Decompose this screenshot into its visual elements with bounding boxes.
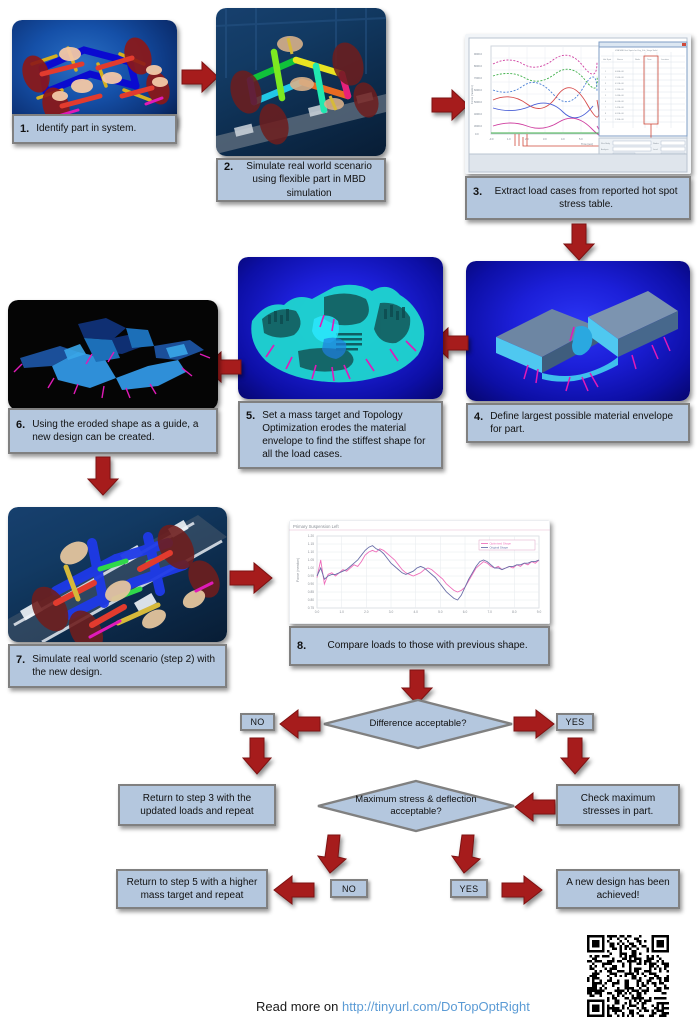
step-1-text: Identify part in system. xyxy=(36,122,169,135)
svg-text:9000.0: 9000.0 xyxy=(474,52,482,56)
svg-text:4.0: 4.0 xyxy=(413,610,418,614)
step-2-caption: 2. Simulate real world scenario using fl… xyxy=(216,158,386,202)
step-5-image xyxy=(238,257,443,399)
step-4-caption: 4. Define largest possible material enve… xyxy=(466,403,690,443)
svg-text:1.28E+08: 1.28E+08 xyxy=(615,89,625,91)
svg-text:2.0: 2.0 xyxy=(364,610,369,614)
svg-text:1.0: 1.0 xyxy=(339,610,344,614)
svg-text:3.0: 3.0 xyxy=(389,610,394,614)
arrow-step7-to-step8 xyxy=(228,561,274,595)
svg-text:0.80: 0.80 xyxy=(308,598,314,602)
svg-text:0.75: 0.75 xyxy=(308,606,314,610)
svg-text:5.0: 5.0 xyxy=(438,610,443,614)
svg-text:Nodes: Nodes xyxy=(653,143,659,145)
step-5-number: 5. xyxy=(246,409,255,424)
decision-difference-label: Difference acceptable? xyxy=(322,698,514,750)
svg-text:4.86E+08: 4.86E+08 xyxy=(615,71,625,73)
arrow-yes2-to-achieved xyxy=(500,874,544,906)
arrow-step6-to-step7 xyxy=(86,455,120,497)
outcome-new-design-achieved: A new design has been achieved! xyxy=(556,869,680,909)
tag-no-1: NO xyxy=(240,713,275,731)
step-1-number: 1. xyxy=(20,122,29,137)
svg-text:8.0: 8.0 xyxy=(512,610,517,614)
step-6-number: 6. xyxy=(16,418,25,433)
svg-text:0.85: 0.85 xyxy=(308,590,314,594)
decision-difference-acceptable: Difference acceptable? xyxy=(322,698,514,750)
svg-text:1.10: 1.10 xyxy=(308,550,314,554)
arrow-decision1-to-no xyxy=(278,708,322,740)
step-6-caption: 6. Using the eroded shape as a guide, a … xyxy=(8,408,218,454)
svg-text:1.0: 1.0 xyxy=(507,137,511,141)
step-8-number: 8. xyxy=(297,639,306,654)
svg-text:HTA MBD Hot Spots for Key_File: HTA MBD Hot Spots for Key_File_Stage.Sol… xyxy=(615,49,658,52)
step-2-number: 2. xyxy=(224,160,233,175)
step-8-text: Compare loads to those with previous sha… xyxy=(313,639,542,652)
svg-text:Original Shape: Original Shape xyxy=(490,546,509,550)
svg-text:1.15: 1.15 xyxy=(308,542,314,546)
svg-text:Node: Node xyxy=(635,59,641,61)
step-4-number: 4. xyxy=(474,410,483,425)
svg-text:Stress: Stress xyxy=(617,58,623,61)
svg-text:6000.0: 6000.0 xyxy=(474,88,482,92)
footer-read-more: Read more on http://tinyurl.com/DoTopOpt… xyxy=(256,999,530,1014)
svg-text:4.04E+08: 4.04E+08 xyxy=(615,101,625,103)
decision-max-stress: Maximum stress & deflection acceptable? xyxy=(316,779,516,833)
svg-text:Level: Level xyxy=(653,149,658,151)
svg-text:1.20: 1.20 xyxy=(308,534,314,538)
svg-text:9.0: 9.0 xyxy=(537,610,542,614)
step-5-caption: 5. Set a mass target and Topology Optimi… xyxy=(238,401,443,469)
step-3-caption: 3. Extract load cases from reported hot … xyxy=(465,176,691,220)
arrow-checkmax-to-decision2 xyxy=(513,791,557,823)
step-7-text: Simulate real world scenario (step 2) wi… xyxy=(32,653,219,679)
arrow-step3-to-step4 xyxy=(562,222,596,262)
svg-text:Force (newton): Force (newton) xyxy=(470,85,474,104)
outcome-return-step3: Return to step 3 with the updated loads … xyxy=(118,784,276,826)
svg-text:5.0: 5.0 xyxy=(579,137,583,141)
step-7-caption: 7. Simulate real world scenario (step 2)… xyxy=(8,644,227,688)
svg-text:1.08E+08: 1.08E+08 xyxy=(615,95,625,97)
svg-text:4.0: 4.0 xyxy=(561,137,565,141)
tag-no-2: NO xyxy=(330,879,368,898)
outcome-return-step5: Return to step 5 with a higher mass targ… xyxy=(116,869,268,909)
arrow-yes1-down xyxy=(559,736,591,776)
svg-text:6.0: 6.0 xyxy=(463,610,468,614)
arrow-decision1-to-yes xyxy=(512,708,556,740)
step-2-text: Simulate real world scenario using flexi… xyxy=(240,160,378,200)
svg-text:4000.0: 4000.0 xyxy=(474,112,482,116)
svg-text:4.91E+08: 4.91E+08 xyxy=(615,83,625,85)
arrow-no1-down xyxy=(241,736,273,776)
arrow-decision2-to-yes2 xyxy=(450,833,484,875)
svg-text:-0.0: -0.0 xyxy=(489,137,494,141)
step-3-image: 9000.08000.07000.0 6000.05000.04000.0 30… xyxy=(465,34,691,174)
arrow-step1-to-step2 xyxy=(180,60,220,94)
svg-text:7.0: 7.0 xyxy=(487,610,492,614)
qr-code xyxy=(578,935,678,1017)
svg-text:1.00: 1.00 xyxy=(308,566,314,570)
step-4-text: Define largest possible material envelop… xyxy=(490,410,682,436)
step-3-text: Extract load cases from reported hot spo… xyxy=(489,185,683,211)
footer-label: Read more on xyxy=(256,999,342,1014)
svg-text:8000.0: 8000.0 xyxy=(474,64,482,68)
arrow-step2-to-step3 xyxy=(430,88,470,122)
step-3-number: 3. xyxy=(473,185,482,200)
svg-text:5000.0: 5000.0 xyxy=(474,100,482,104)
step-7-number: 7. xyxy=(16,653,25,668)
footer-url[interactable]: http://tinyurl.com/DoTopOptRight xyxy=(342,999,530,1014)
svg-text:Primary Suspension Left: Primary Suspension Left xyxy=(293,524,339,529)
svg-text:Analysis: Analysis xyxy=(601,148,608,151)
svg-text:0.90: 0.90 xyxy=(308,582,314,586)
step-4-image xyxy=(466,261,690,401)
arrow-no2-to-return-step5 xyxy=(272,874,316,906)
step-8-image: Primary Suspension Left Force (newton) 0… xyxy=(289,520,550,624)
svg-text:Flex Body: Flex Body xyxy=(601,143,610,145)
svg-text:1.05: 1.05 xyxy=(308,558,314,562)
svg-text:1.56E+08: 1.56E+08 xyxy=(615,77,625,79)
svg-text:0.0: 0.0 xyxy=(475,132,479,136)
svg-text:Time (sec): Time (sec) xyxy=(581,142,593,146)
tag-yes-1: YES xyxy=(556,713,594,731)
step-7-image xyxy=(8,507,227,642)
arrow-decision2-to-no2 xyxy=(316,833,350,875)
step-5-text: Set a mass target and Topology Optimizat… xyxy=(262,409,435,462)
svg-text:0.95: 0.95 xyxy=(308,574,314,578)
tag-yes-2: YES xyxy=(450,879,488,898)
svg-text:Location: Location xyxy=(661,58,670,61)
outcome-check-max-stress: Check maximum stresses in part. xyxy=(556,784,680,826)
svg-text:3.0: 3.0 xyxy=(543,137,547,141)
svg-text:4.81E+08: 4.81E+08 xyxy=(615,113,625,115)
svg-text:1.42E+08: 1.42E+08 xyxy=(615,107,625,109)
svg-text:Hot Spot: Hot Spot xyxy=(603,58,612,61)
svg-text:0.0: 0.0 xyxy=(315,610,320,614)
step-8-caption: 8. Compare loads to those with previous … xyxy=(289,626,550,666)
step-2-image xyxy=(216,8,386,156)
step-6-text: Using the eroded shape as a guide, a new… xyxy=(32,418,210,444)
svg-text:Force (newton): Force (newton) xyxy=(296,558,300,582)
step-1-caption: 1. Identify part in system. xyxy=(12,114,177,144)
svg-text:3000.0: 3000.0 xyxy=(474,124,482,128)
svg-text:1.39E+08: 1.39E+08 xyxy=(615,119,625,121)
svg-text:7000.0: 7000.0 xyxy=(474,76,482,80)
decision-max-stress-label: Maximum stress & deflection acceptable? xyxy=(316,779,516,833)
step-6-image xyxy=(8,300,218,410)
